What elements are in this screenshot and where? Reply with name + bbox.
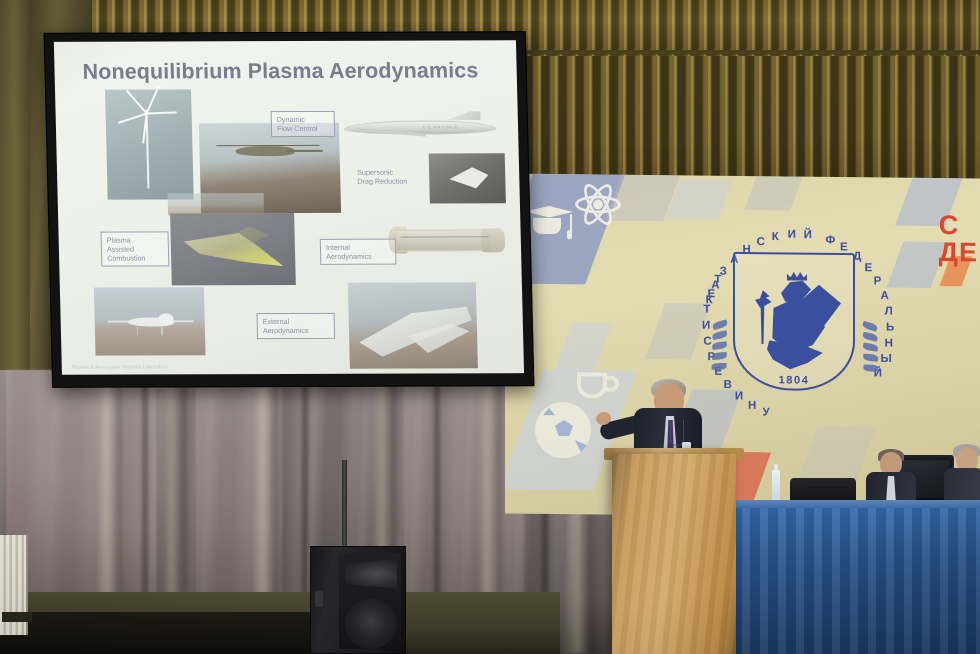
projection-screen-frame: Nonequilibrium Plasma Aerodynamics	[44, 31, 535, 388]
wind-turbine-photo	[105, 89, 194, 199]
aircraft-photo: U.S. AIR FORCE	[344, 110, 497, 145]
speaker-stand-pole	[342, 460, 347, 552]
uav-photo	[94, 287, 206, 355]
conference-hall-scene: К А З А Н С К И Й Ф Е Д Е Р А Л Ь Н Ы Й	[0, 0, 980, 654]
trophy-cup-icon	[577, 372, 627, 409]
shockwave-photo	[429, 153, 506, 203]
aircraft-marking: U.S. AIR FORCE	[423, 125, 458, 130]
label-internal-aerodynamics: Internal Aerodynamics	[320, 239, 397, 265]
slide-title: Nonequilibrium Plasma Aerodynamics	[82, 58, 478, 84]
wing-photo	[348, 282, 478, 368]
pa-loudspeaker	[310, 546, 406, 654]
graduation-cap-icon	[523, 202, 583, 249]
waverider-photo	[170, 213, 296, 285]
label-plasma-assisted-combustion: Plasma Assisted Combustion	[100, 231, 169, 266]
jet-engine-photo	[388, 218, 505, 262]
pa-woofer	[345, 599, 397, 649]
radiator-base	[2, 612, 32, 622]
stage-floor-shadow	[0, 612, 330, 654]
banner-red-headline: С ДЕ	[939, 212, 978, 266]
atom-icon	[575, 180, 625, 229]
soccer-ball-icon	[535, 402, 595, 463]
seated-person-2-body	[944, 468, 980, 504]
podium	[612, 454, 736, 654]
kfu-emblem: К А З А Н С К И Й Ф Е Д Е Р А Л Ь Н Ы Й	[701, 222, 887, 420]
label-external-aerodynamics: External Aerodynamics	[257, 313, 336, 339]
slide-footer-text: Plasma & Aerospace Systems Laboratory	[72, 364, 168, 370]
emblem-shield	[733, 252, 855, 391]
pa-handle	[315, 591, 323, 607]
emblem-founded-year: 1804	[701, 374, 887, 388]
water-bottle	[772, 470, 780, 502]
zilant-dragon-icon	[751, 268, 843, 373]
label-dynamic-flow-control: Dynamic Flow Control	[271, 111, 336, 137]
podium-wood-grain	[612, 454, 736, 654]
cable-coil	[800, 486, 856, 498]
extra-top-photo	[168, 193, 265, 215]
presentation-slide: Nonequilibrium Plasma Aerodynamics	[54, 40, 524, 375]
label-supersonic-drag-reduction: Supersonic Drag Reduction	[352, 165, 425, 189]
presidium-table	[706, 508, 980, 654]
projection-screen-surface: Nonequilibrium Plasma Aerodynamics	[54, 40, 524, 375]
